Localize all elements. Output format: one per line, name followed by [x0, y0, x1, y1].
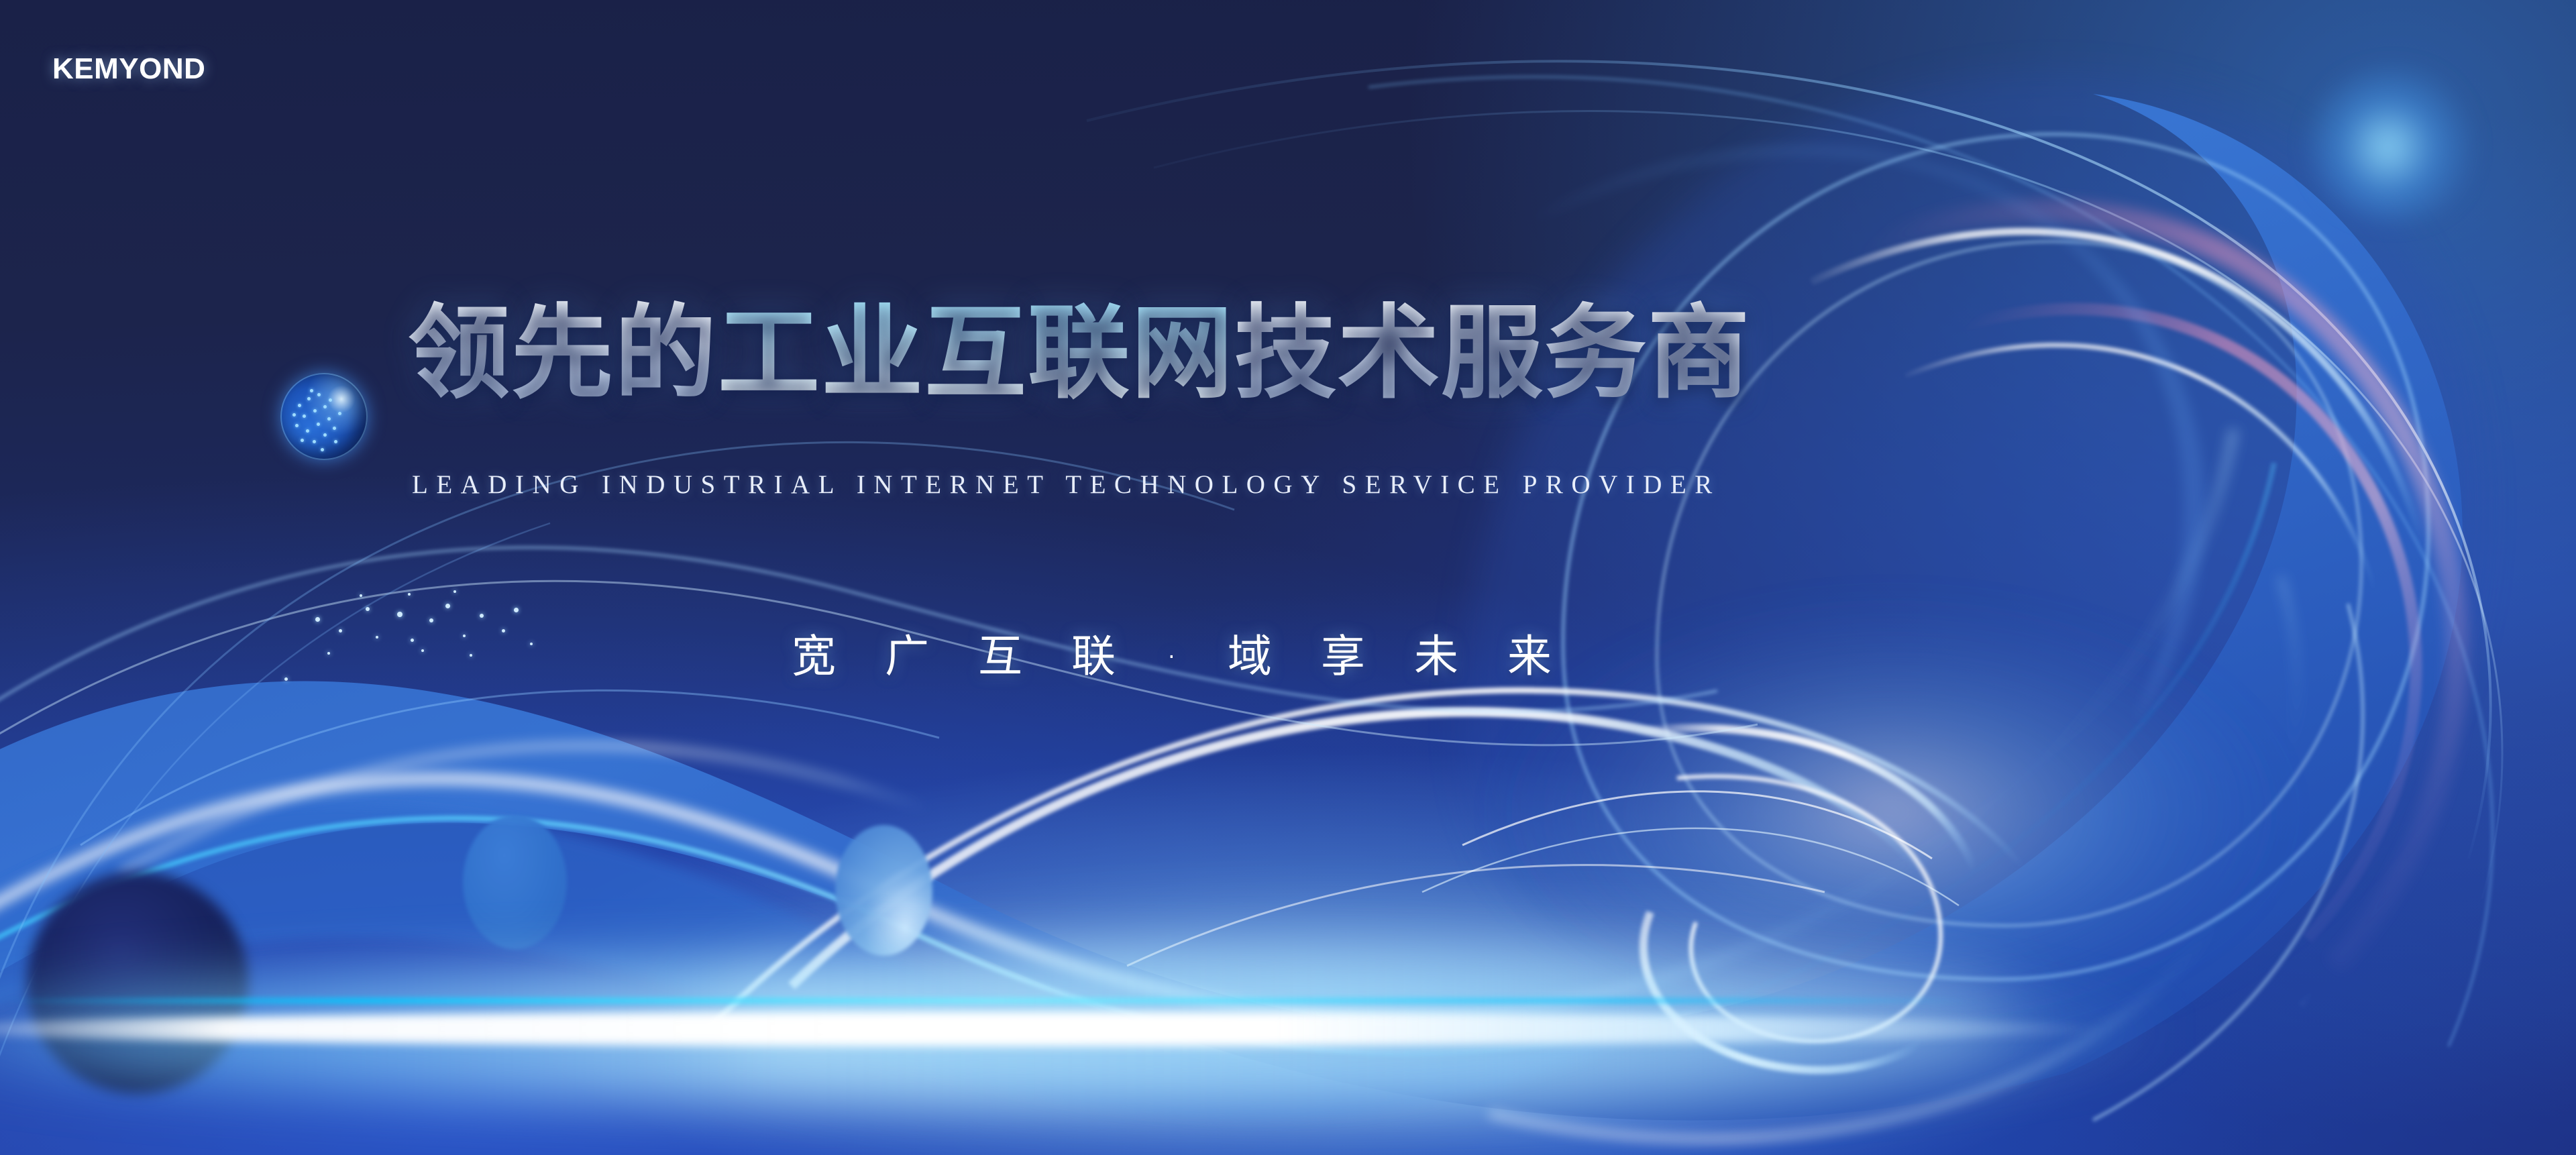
headline-segment-leading: 领先的 — [408, 294, 718, 412]
sphere-rim — [280, 373, 368, 460]
light-beam-cyan-edge — [0, 998, 1979, 1003]
soft-glow-orb-icon — [2308, 67, 2482, 221]
brand-logo[interactable]: KEMYOND — [52, 52, 205, 86]
headline-segment-trailing: 技术服务商 — [1234, 294, 1751, 412]
ellipse-decor-left — [463, 815, 567, 949]
page-tagline: 宽 广 互 联 · 域 享 未 来 — [792, 620, 1569, 685]
light-beam-core — [0, 1011, 2106, 1046]
page-title: 领先的工业互联网技术服务商 — [408, 296, 1751, 410]
dotted-sphere-icon — [280, 373, 368, 460]
banner-canvas: KEMYOND 领先的工业互联网技术服务商 LEADING INDUSTRIAL… — [0, 0, 2576, 1155]
headline-segment-highlight: 工业互联网 — [718, 294, 1234, 412]
ellipse-decor-right — [835, 825, 932, 956]
page-subtitle: LEADING INDUSTRIAL INTERNET TECHNOLOGY S… — [412, 470, 1721, 500]
